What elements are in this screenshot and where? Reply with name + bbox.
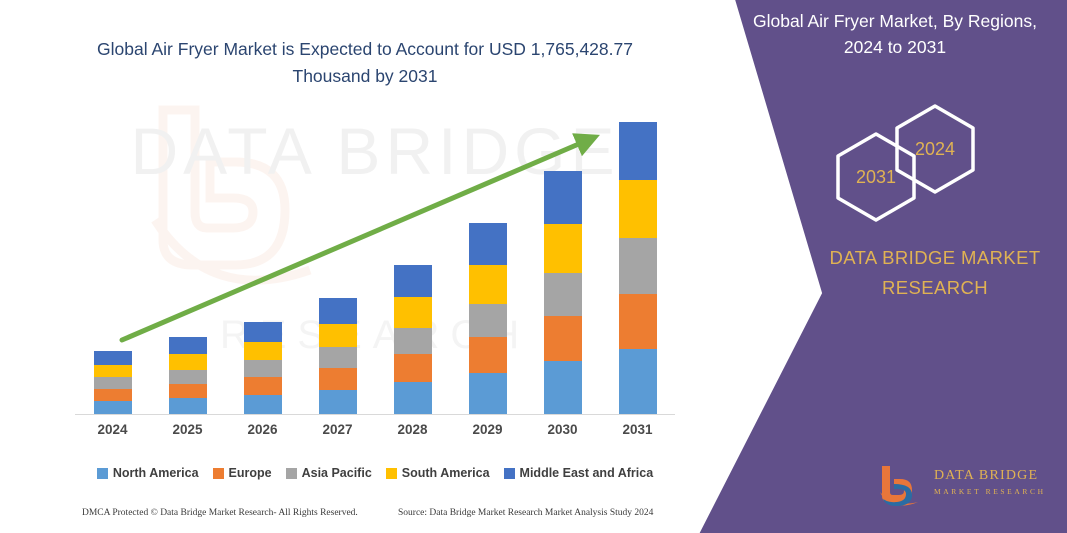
legend-swatch-icon [504,468,515,479]
x-axis-tick-label: 2030 [528,422,598,437]
legend-item[interactable]: South America [386,466,490,480]
legend-swatch-icon [97,468,108,479]
x-axis-tick-label: 2027 [303,422,373,437]
data-bridge-logo-icon [874,462,930,508]
legend-swatch-icon [386,468,397,479]
chart-legend: North AmericaEuropeAsia PacificSouth Ame… [75,466,675,480]
legend-label: North America [113,466,199,480]
footer-source: Source: Data Bridge Market Research Mark… [398,508,653,518]
x-axis-tick-label: 2028 [378,422,448,437]
legend-swatch-icon [213,468,224,479]
x-axis-tick-label: 2031 [603,422,673,437]
hex-badge-label: 2024 [915,139,955,160]
growth-arrow-annotation [75,100,675,415]
x-axis-line [75,414,675,415]
legend-swatch-icon [286,468,297,479]
legend-item[interactable]: Asia Pacific [286,466,372,480]
legend-label: Europe [229,466,272,480]
company-logo: DATA BRIDGE MARKET RESEARCH [874,462,1049,508]
panel-title: Global Air Fryer Market, By Regions, 202… [735,8,1055,60]
x-axis-labels: 20242025202620272028202920302031 [75,422,675,444]
x-axis-tick-label: 2026 [228,422,298,437]
hex-badge-label: 2031 [856,167,896,188]
legend-item[interactable]: Europe [213,466,272,480]
legend-item[interactable]: Middle East and Africa [504,466,654,480]
logo-line-1: DATA BRIDGE [934,468,1046,484]
logo-line-2: MARKET RESEARCH [934,487,1046,496]
page-title: Global Air Fryer Market is Expected to A… [60,36,670,90]
legend-label: Middle East and Africa [520,466,654,480]
footer-dmca: DMCA Protected © Data Bridge Market Rese… [82,508,358,518]
hex-badge-year-start: 2024 [893,103,977,195]
x-axis-tick-label: 2024 [78,422,148,437]
x-axis-tick-label: 2029 [453,422,523,437]
brand-name: DATA BRIDGE MARKET RESEARCH [820,243,1050,303]
infographic-slide: Global Air Fryer Market, By Regions, 202… [0,0,1067,533]
legend-item[interactable]: North America [97,466,199,480]
legend-label: South America [402,466,490,480]
x-axis-tick-label: 2025 [153,422,223,437]
footer: DMCA Protected © Data Bridge Market Rese… [0,506,672,528]
legend-label: Asia Pacific [302,466,372,480]
logo-wordmark: DATA BRIDGE MARKET RESEARCH [934,468,1046,496]
